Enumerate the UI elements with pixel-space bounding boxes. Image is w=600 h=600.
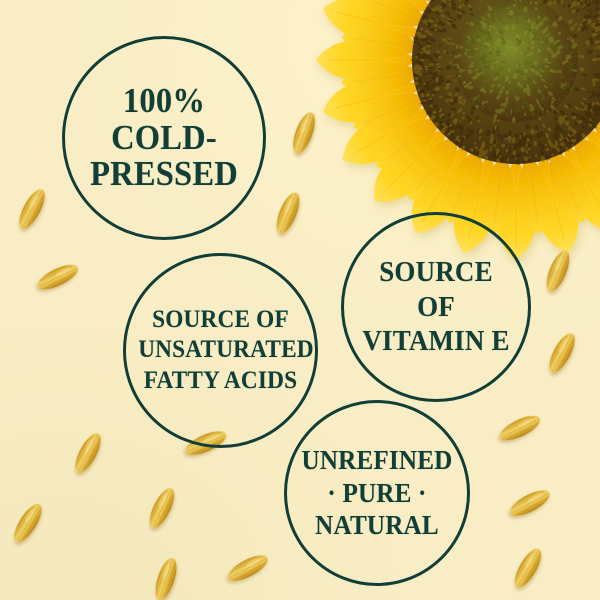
product-claims-poster: 100% COLD- PRESSED SOURCE OF UNSATURATED…: [0, 0, 600, 600]
badge-unsaturated-fatty-acids[interactable]: SOURCE OF UNSATURATED FATTY ACIDS: [123, 253, 318, 448]
badge-line: NATURAL: [299, 509, 455, 542]
badge-cold-pressed-lines: 100% COLD- PRESSED: [65, 83, 263, 192]
sunflower-seed: [33, 258, 83, 296]
sunflower-seed: [540, 246, 576, 296]
sunflower-seed: [12, 184, 51, 234]
badge-line: COLD-: [78, 120, 251, 156]
badge-cold-pressed[interactable]: 100% COLD- PRESSED: [62, 36, 266, 240]
sunflower-seed: [223, 548, 273, 587]
badge-line: VITAMIN E: [356, 324, 516, 359]
badge-unsaturated-fatty-acids-lines: SOURCE OF UNSATURATED FATTY ACIDS: [126, 305, 315, 397]
sunflower-seed: [68, 428, 107, 478]
badge-vitamin-e[interactable]: SOURCE OF VITAMIN E: [341, 212, 531, 402]
sunflower-seed: [143, 483, 181, 533]
badge-line: PRESSED: [78, 156, 251, 192]
sunflower-seed: [287, 108, 322, 158]
sunflower-seed: [270, 188, 306, 238]
badge-unrefined-pure-natural[interactable]: UNREFINED · PURE · NATURAL: [284, 400, 470, 586]
badge-line: · PURE ·: [299, 477, 455, 510]
sunflower-seed: [508, 543, 548, 593]
badge-line: UNSATURATED: [138, 335, 303, 366]
sunflower-seed: [7, 498, 48, 548]
badge-line: 100%: [78, 83, 251, 119]
badge-line: SOURCE: [356, 255, 516, 290]
badge-vitamin-e-lines: SOURCE OF VITAMIN E: [344, 255, 528, 359]
sunflower-seed: [149, 554, 182, 600]
badge-unrefined-pure-natural-lines: UNREFINED · PURE · NATURAL: [287, 444, 467, 543]
sunflower-seed: [505, 483, 555, 522]
badge-line: SOURCE OF: [138, 305, 303, 336]
badge-line: FATTY ACIDS: [138, 366, 303, 397]
badge-line: OF: [356, 290, 516, 325]
sunflower-seed: [542, 328, 581, 378]
sunflower-seed: [495, 409, 545, 447]
badge-line: UNREFINED: [299, 444, 455, 477]
